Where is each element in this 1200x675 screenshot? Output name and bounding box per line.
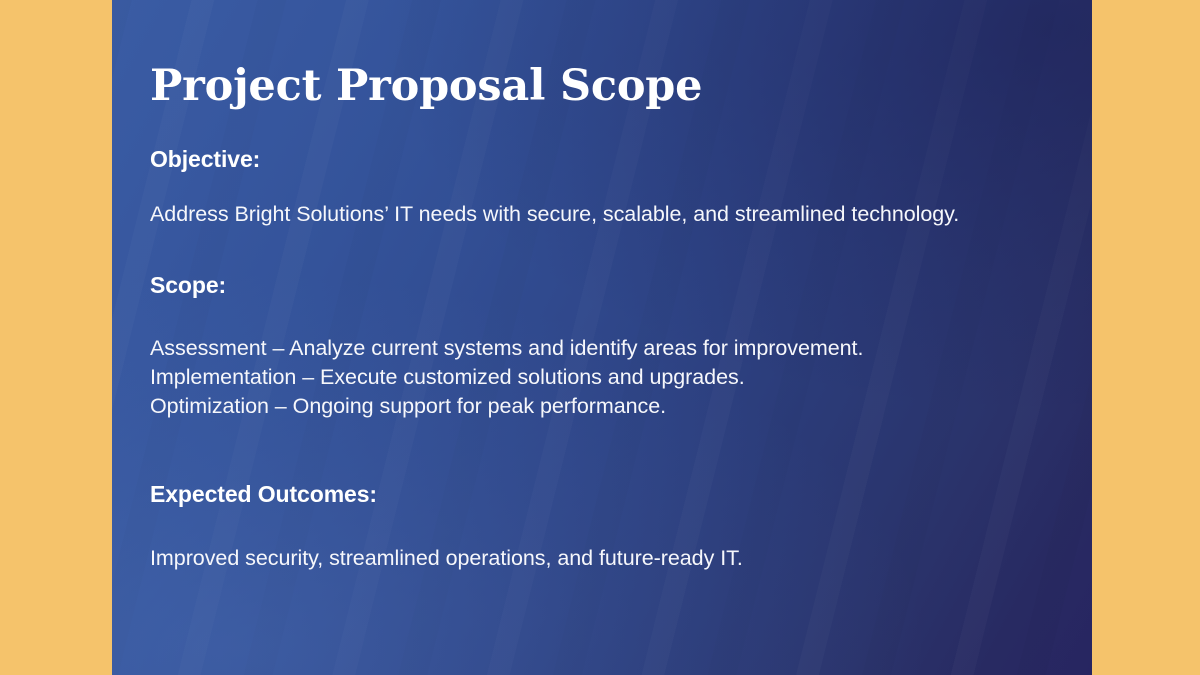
section-heading-objective: Objective:	[150, 147, 260, 172]
scope-line-implementation: Implementation – Execute customized solu…	[150, 363, 863, 392]
scope-line-assessment: Assessment – Analyze current systems and…	[150, 334, 863, 363]
section-body-scope: Assessment – Analyze current systems and…	[150, 334, 863, 421]
section-heading-scope: Scope:	[150, 273, 226, 298]
scope-line-optimization: Optimization – Ongoing support for peak …	[150, 392, 863, 421]
accent-band-left	[0, 0, 112, 675]
slide-canvas: Project Proposal Scope Objective: Addres…	[0, 0, 1200, 675]
slide-panel: Project Proposal Scope Objective: Addres…	[112, 0, 1092, 675]
section-heading-expected-outcomes: Expected Outcomes:	[150, 482, 377, 507]
section-body-expected-outcomes: Improved security, streamlined operation…	[150, 544, 743, 573]
accent-band-right	[1092, 0, 1200, 675]
slide-content: Project Proposal Scope Objective: Addres…	[150, 0, 1092, 675]
page-title: Project Proposal Scope	[150, 64, 702, 110]
section-body-objective: Address Bright Solutions’ IT needs with …	[150, 200, 959, 229]
